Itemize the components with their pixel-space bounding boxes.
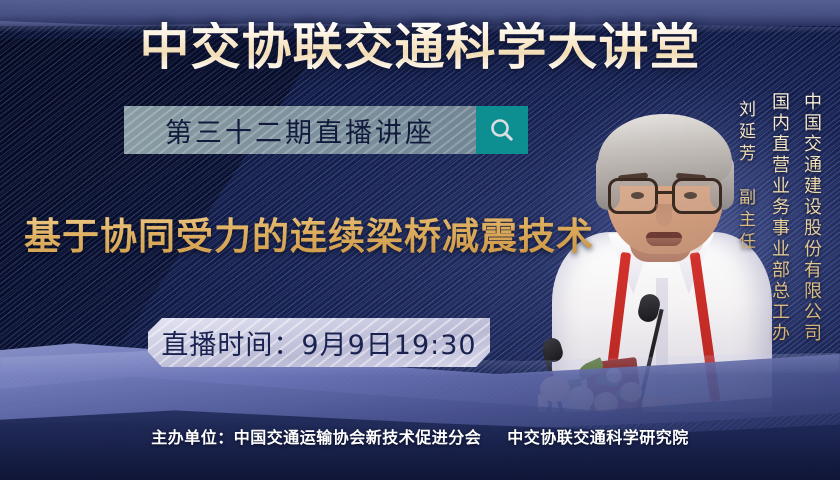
speaker-company: 中国交通建设股份有限公司 (798, 92, 824, 344)
footer-organizer-2: 中交协联交通科学研究院 (507, 428, 689, 447)
glasses-bridge (658, 191, 674, 194)
search-button[interactable] (476, 106, 528, 154)
lecture-topic-title: 基于协同受力的连续梁桥减震技术 (24, 206, 594, 260)
speaker-chin-shadow (628, 238, 704, 260)
subtitle-label: 第三十二期直播讲座 (165, 111, 435, 150)
subtitle-bar-label-box: 第三十二期直播讲座 (124, 106, 476, 154)
speaker-name-title: 刘延芳 副主任 (733, 100, 758, 254)
live-time-badge: 直播时间：9月9日19:30 (148, 318, 490, 367)
speaker-department: 国内直营业务事业部总工办 (766, 92, 792, 344)
footer-organizer-1: 中国交通运输协会新技术促进分会 (234, 428, 482, 447)
footer-organizers: 主办单位：中国交通运输协会新技术促进分会中交协联交通科学研究院 (0, 424, 840, 448)
subtitle-bar: 第三十二期直播讲座 (124, 106, 528, 154)
glasses-lens-right (672, 178, 722, 214)
footer-prefix: 主办单位： (151, 428, 234, 447)
glasses-lens-left (608, 178, 658, 214)
live-lecture-poster: 中交协联交通科学大讲堂 第三十二期直播讲座 基于协同受力的连续梁桥减震技术 直播… (0, 0, 840, 480)
live-time-label: 直播时间：9月9日19:30 (161, 323, 476, 362)
poster-main-title: 中交协联交通科学大讲堂 (0, 22, 840, 73)
search-icon (488, 116, 516, 144)
speaker-nose (656, 204, 672, 226)
